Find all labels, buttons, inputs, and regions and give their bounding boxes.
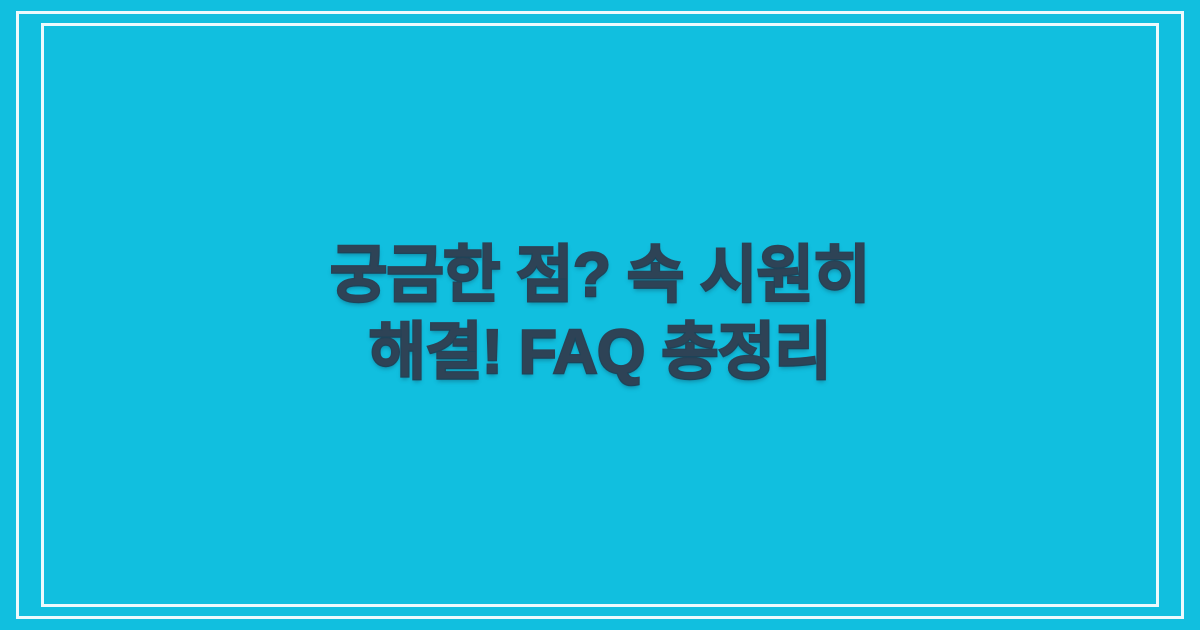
headline-line-1: 궁금한 점? 속 시원히 (330, 238, 870, 315)
faq-banner: 궁금한 점? 속 시원히 해결! FAQ 총정리 (0, 0, 1200, 630)
headline-line-2: 해결! FAQ 총정리 (369, 315, 831, 392)
headline-block: 궁금한 점? 속 시원히 해결! FAQ 총정리 (0, 0, 1200, 630)
